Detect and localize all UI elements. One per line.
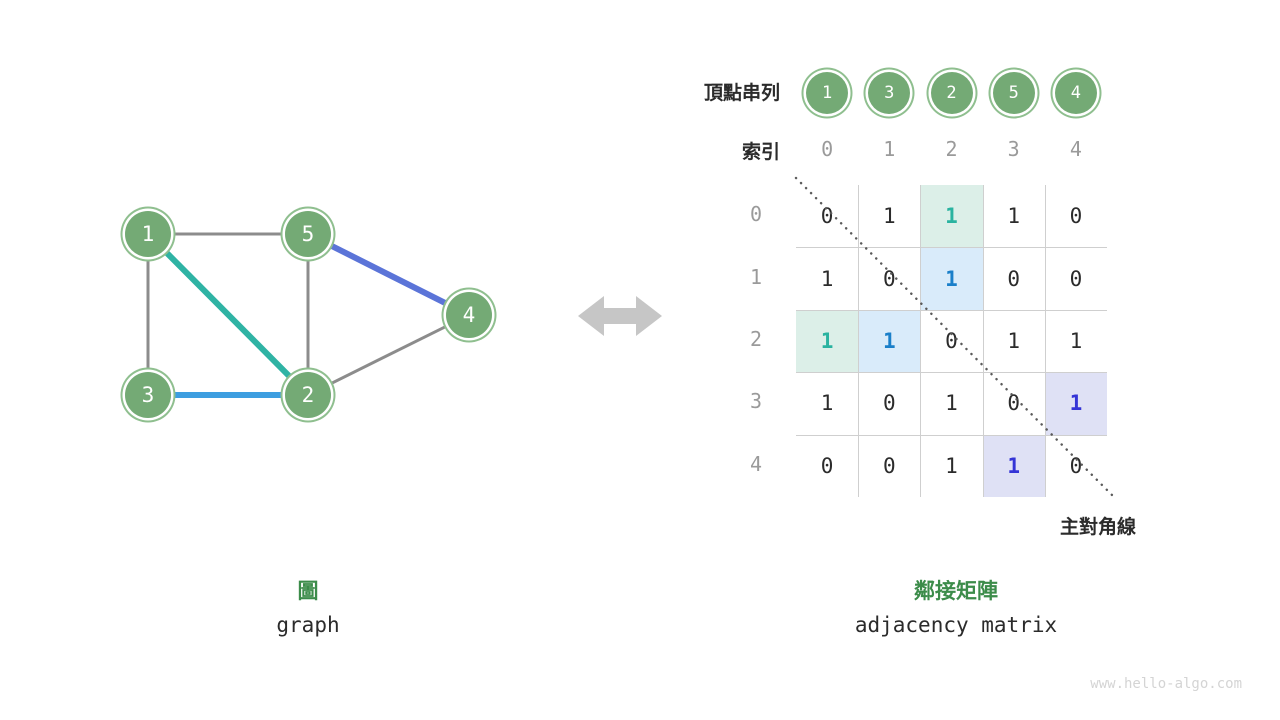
matrix-cell-1-2[interactable]: 1 [920, 247, 982, 309]
column-index-4: 4 [1056, 137, 1096, 161]
matrix-cell-0-2[interactable]: 1 [920, 185, 982, 247]
grid-vertical-line-1 [858, 185, 859, 497]
row-index-4: 4 [736, 452, 776, 476]
diagram-canvas: 15432 圖 graph 頂點串列 索引 13254 01234 01234 … [0, 0, 1280, 720]
vertex-sequence-node-1[interactable]: 3 [868, 72, 910, 114]
adjacency-matrix-grid: 0111010100110111010100110 [796, 185, 1107, 497]
matrix-cell-0-1[interactable]: 1 [858, 185, 920, 247]
column-index-1: 1 [869, 137, 909, 161]
grid-horizontal-line-3 [796, 372, 1107, 373]
matrix-cell-4-0[interactable]: 0 [796, 435, 858, 497]
matrix-cell-3-0[interactable]: 1 [796, 372, 858, 434]
grid-horizontal-line-1 [796, 247, 1107, 248]
vertex-sequence-node-4[interactable]: 4 [1055, 72, 1097, 114]
grid-horizontal-line-4 [796, 435, 1107, 436]
matrix-cell-2-1[interactable]: 1 [858, 310, 920, 372]
matrix-cell-2-0[interactable]: 1 [796, 310, 858, 372]
vertex-sequence-node-3[interactable]: 5 [993, 72, 1035, 114]
matrix-cell-2-3[interactable]: 1 [983, 310, 1045, 372]
matrix-cell-2-4[interactable]: 1 [1045, 310, 1107, 372]
matrix-caption-cn: 鄰接矩陣 [856, 575, 1056, 605]
row-index-2: 2 [736, 327, 776, 351]
row-index-3: 3 [736, 389, 776, 413]
matrix-cell-1-4[interactable]: 0 [1045, 247, 1107, 309]
matrix-cell-1-0[interactable]: 1 [796, 247, 858, 309]
matrix-cell-2-2[interactable]: 0 [920, 310, 982, 372]
grid-vertical-line-2 [920, 185, 921, 497]
matrix-cell-3-3[interactable]: 0 [983, 372, 1045, 434]
matrix-cell-0-4[interactable]: 0 [1045, 185, 1107, 247]
index-label: 索引 [660, 137, 780, 164]
column-index-3: 3 [994, 137, 1034, 161]
row-index-0: 0 [736, 202, 776, 226]
grid-vertical-line-3 [983, 185, 984, 497]
matrix-cell-4-3[interactable]: 1 [983, 435, 1045, 497]
matrix-cell-1-1[interactable]: 0 [858, 247, 920, 309]
matrix-cell-3-4[interactable]: 1 [1045, 372, 1107, 434]
matrix-cell-4-1[interactable]: 0 [858, 435, 920, 497]
main-diagonal-label: 主對角線 [1060, 512, 1136, 539]
vertex-sequence-node-2[interactable]: 2 [931, 72, 973, 114]
grid-vertical-line-4 [1045, 185, 1046, 497]
matrix-cell-1-3[interactable]: 0 [983, 247, 1045, 309]
grid-horizontal-line-2 [796, 310, 1107, 311]
matrix-cell-3-2[interactable]: 1 [920, 372, 982, 434]
matrix-cell-4-4[interactable]: 0 [1045, 435, 1107, 497]
vertex-sequence-node-0[interactable]: 1 [806, 72, 848, 114]
matrix-panel: 頂點串列 索引 13254 01234 01234 01110101001101… [0, 0, 1280, 720]
matrix-caption-en: adjacency matrix [806, 613, 1106, 637]
matrix-cell-4-2[interactable]: 1 [920, 435, 982, 497]
row-index-1: 1 [736, 265, 776, 289]
matrix-cell-3-1[interactable]: 0 [858, 372, 920, 434]
column-index-0: 0 [807, 137, 847, 161]
matrix-cell-0-3[interactable]: 1 [983, 185, 1045, 247]
matrix-cell-0-0[interactable]: 0 [796, 185, 858, 247]
watermark: www.hello-algo.com [1090, 676, 1242, 692]
column-index-2: 2 [932, 137, 972, 161]
vertex-sequence-label: 頂點串列 [660, 78, 780, 105]
